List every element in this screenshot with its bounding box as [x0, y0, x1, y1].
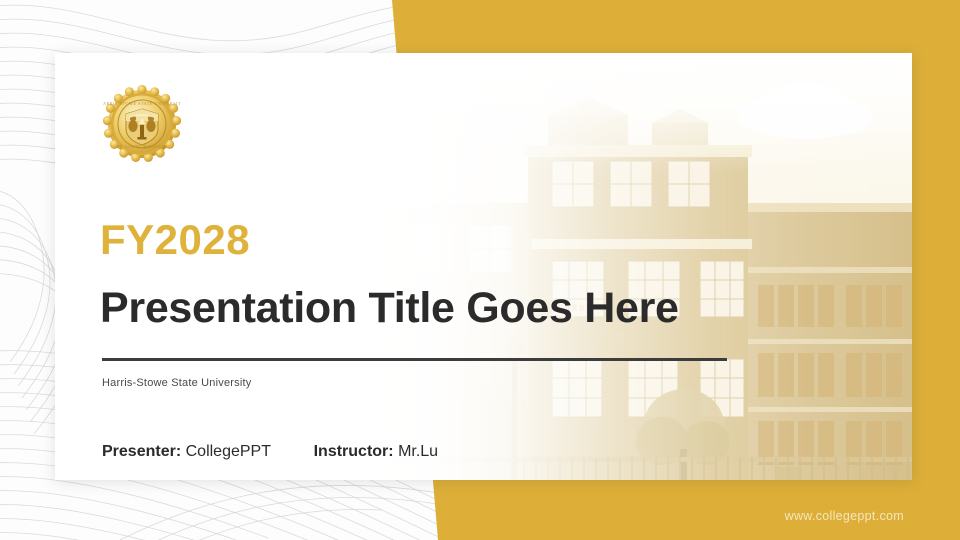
instructor-label: Instructor:: [314, 443, 394, 460]
slide-content-card: HARRIS-STOWE STATE UNIVERSITY: [55, 53, 912, 480]
title-text-block: FY2028 Presentation Title Goes Here Harr…: [100, 53, 800, 480]
instructor-name: Mr.Lu: [398, 443, 438, 460]
presenter-name: CollegePPT: [186, 443, 271, 460]
fiscal-year-label: FY2028: [100, 219, 250, 261]
presenter-label: Presenter:: [102, 443, 181, 460]
footer-website-url[interactable]: www.collegeppt.com: [785, 509, 904, 523]
presentation-slide: HARRIS-STOWE STATE UNIVERSITY: [0, 0, 960, 540]
university-name: Harris-Stowe State University: [102, 377, 251, 389]
credits-line: Presenter: CollegePPT Instructor: Mr.Lu: [102, 443, 438, 461]
title-divider-rule: [102, 358, 727, 361]
page-title: Presentation Title Goes Here: [100, 286, 679, 331]
